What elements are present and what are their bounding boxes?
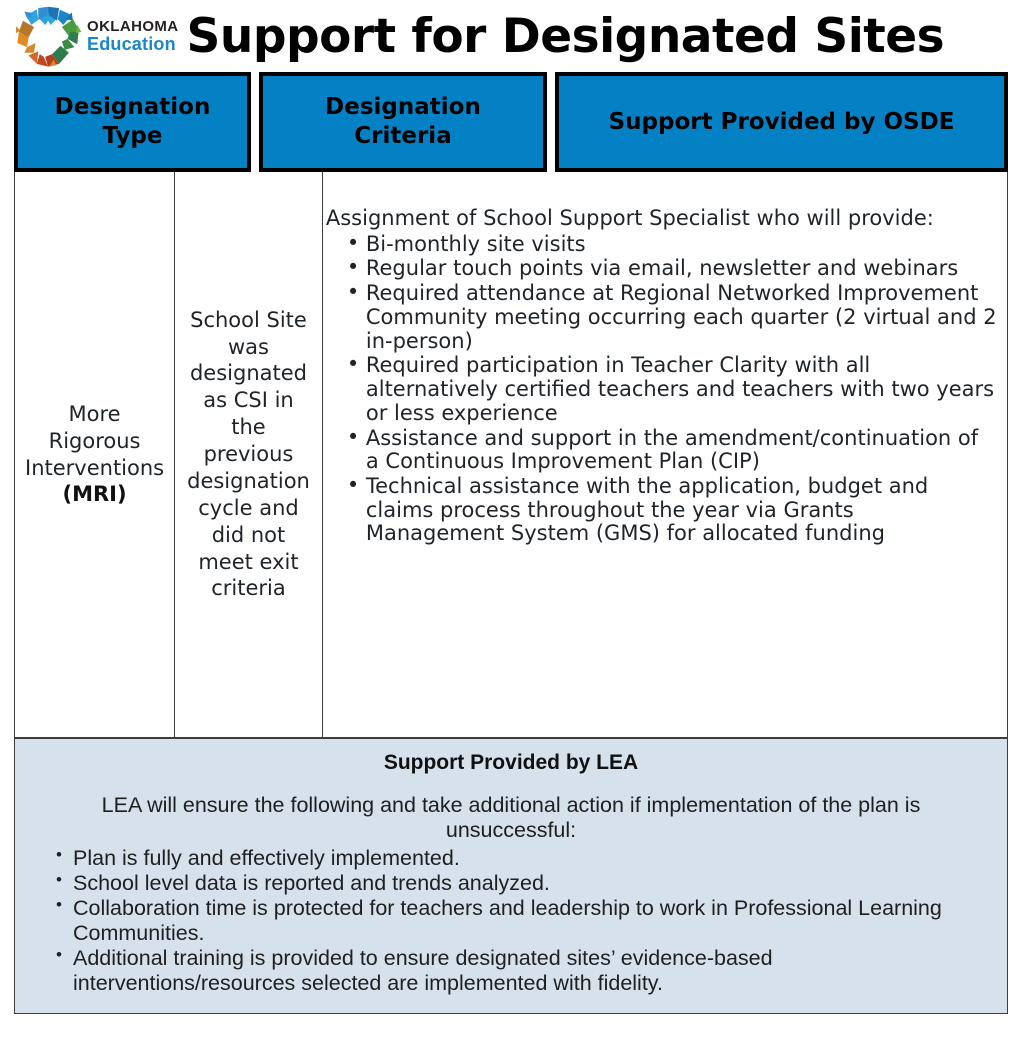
table-header-row: Designation Type Designation Criteria Su… bbox=[14, 72, 1008, 172]
column-header-designation-criteria-line2: Criteria bbox=[354, 123, 451, 149]
list-item: Regular touch points via email, newslett… bbox=[366, 257, 997, 281]
list-item: School level data is reported and trends… bbox=[73, 871, 993, 896]
column-header-designation-type: Designation Type bbox=[14, 72, 251, 172]
column-header-support-osde: Support Provided by OSDE bbox=[555, 72, 1008, 172]
column-header-designation-criteria-line1: Designation bbox=[325, 94, 481, 120]
lea-section-title: Support Provided by LEA bbox=[29, 751, 993, 775]
list-item: Technical assistance with the applicatio… bbox=[366, 475, 997, 546]
list-item: Assistance and support in the amendment/… bbox=[366, 427, 997, 474]
designation-criteria-text: School Site was designated as CSI in the… bbox=[187, 307, 310, 603]
cell-designation-criteria: School Site was designated as CSI in the… bbox=[175, 172, 323, 737]
table-row: More Rigorous Interventions (MRI) School… bbox=[14, 172, 1008, 738]
list-item: Plan is fully and effectively implemente… bbox=[73, 846, 993, 871]
lea-bullet-list: Plan is fully and effectively implemente… bbox=[29, 846, 993, 997]
column-header-designation-type-line1: Designation bbox=[55, 94, 211, 120]
column-header-designation-type-line2: Type bbox=[102, 123, 162, 149]
list-item: Additional training is provided to ensur… bbox=[73, 946, 993, 996]
list-item: Required attendance at Regional Networke… bbox=[366, 282, 997, 353]
osde-support-intro: Assignment of School Support Specialist … bbox=[326, 206, 997, 231]
list-item: Collaboration time is protected for teac… bbox=[73, 896, 993, 946]
cell-designation-type: More Rigorous Interventions (MRI) bbox=[15, 172, 175, 737]
designation-type-abbreviation: (MRI) bbox=[63, 482, 127, 506]
column-header-support-osde-label: Support Provided by OSDE bbox=[609, 108, 955, 137]
list-item: Bi-monthly site visits bbox=[366, 233, 997, 257]
logo-wordmark: OKLAHOMA Education bbox=[87, 19, 179, 53]
designated-sites-table: Designation Type Designation Criteria Su… bbox=[14, 72, 1008, 738]
page-title: Support for Designated Sites bbox=[187, 13, 945, 60]
oklahoma-education-logo: OKLAHOMA Education bbox=[12, 4, 179, 68]
list-item: Required participation in Teacher Clarit… bbox=[366, 354, 997, 425]
designation-type-name: More Rigorous Interventions bbox=[25, 402, 164, 480]
star-logo-icon bbox=[12, 4, 84, 68]
lea-intro-text: LEA will ensure the following and take a… bbox=[29, 793, 993, 844]
osde-support-list: Bi-monthly site visits Regular touch poi… bbox=[326, 233, 997, 546]
column-header-designation-criteria: Designation Criteria bbox=[259, 72, 547, 172]
page-header: OKLAHOMA Education Support for Designate… bbox=[0, 0, 1022, 72]
support-provided-by-lea-panel: Support Provided by LEA LEA will ensure … bbox=[14, 738, 1008, 1014]
logo-line-education: Education bbox=[87, 35, 179, 53]
cell-support-osde: Assignment of School Support Specialist … bbox=[323, 172, 1007, 737]
logo-line-oklahoma: OKLAHOMA bbox=[87, 19, 179, 34]
